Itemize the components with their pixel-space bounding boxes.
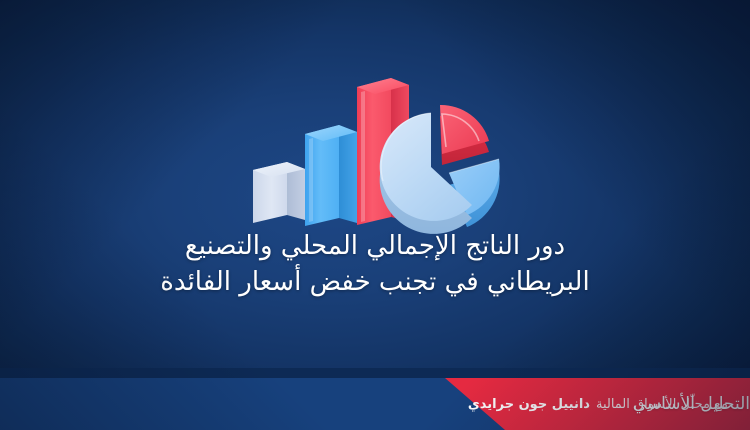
footer-top-strip	[0, 368, 750, 378]
credit-prefix: مع محلّل الأسواق المالية	[596, 397, 728, 412]
page-title: دور الناتج الإجمالي المحلي والتصنيع البر…	[0, 228, 750, 300]
title-line-2: البريطاني في تجنب خفض أسعار الفائدة	[60, 264, 690, 300]
chart-illustration	[243, 55, 513, 230]
title-line-1: دور الناتج الإجمالي المحلي والتصنيع	[60, 228, 690, 264]
bar-medium-3d	[305, 125, 357, 226]
pie-slice-accent-3d	[440, 105, 489, 165]
banner-canvas: دور الناتج الإجمالي المحلي والتصنيع البر…	[0, 0, 750, 430]
credit-author-name: دانييل جون جرايدي	[468, 397, 590, 412]
bar-small-3d	[253, 162, 305, 223]
footer-bar: التحليل الأساسي مع محلّل الأسواق المالية…	[0, 378, 750, 430]
footer-credit: مع محلّل الأسواق المالية دانييل جون جراي…	[468, 378, 728, 430]
